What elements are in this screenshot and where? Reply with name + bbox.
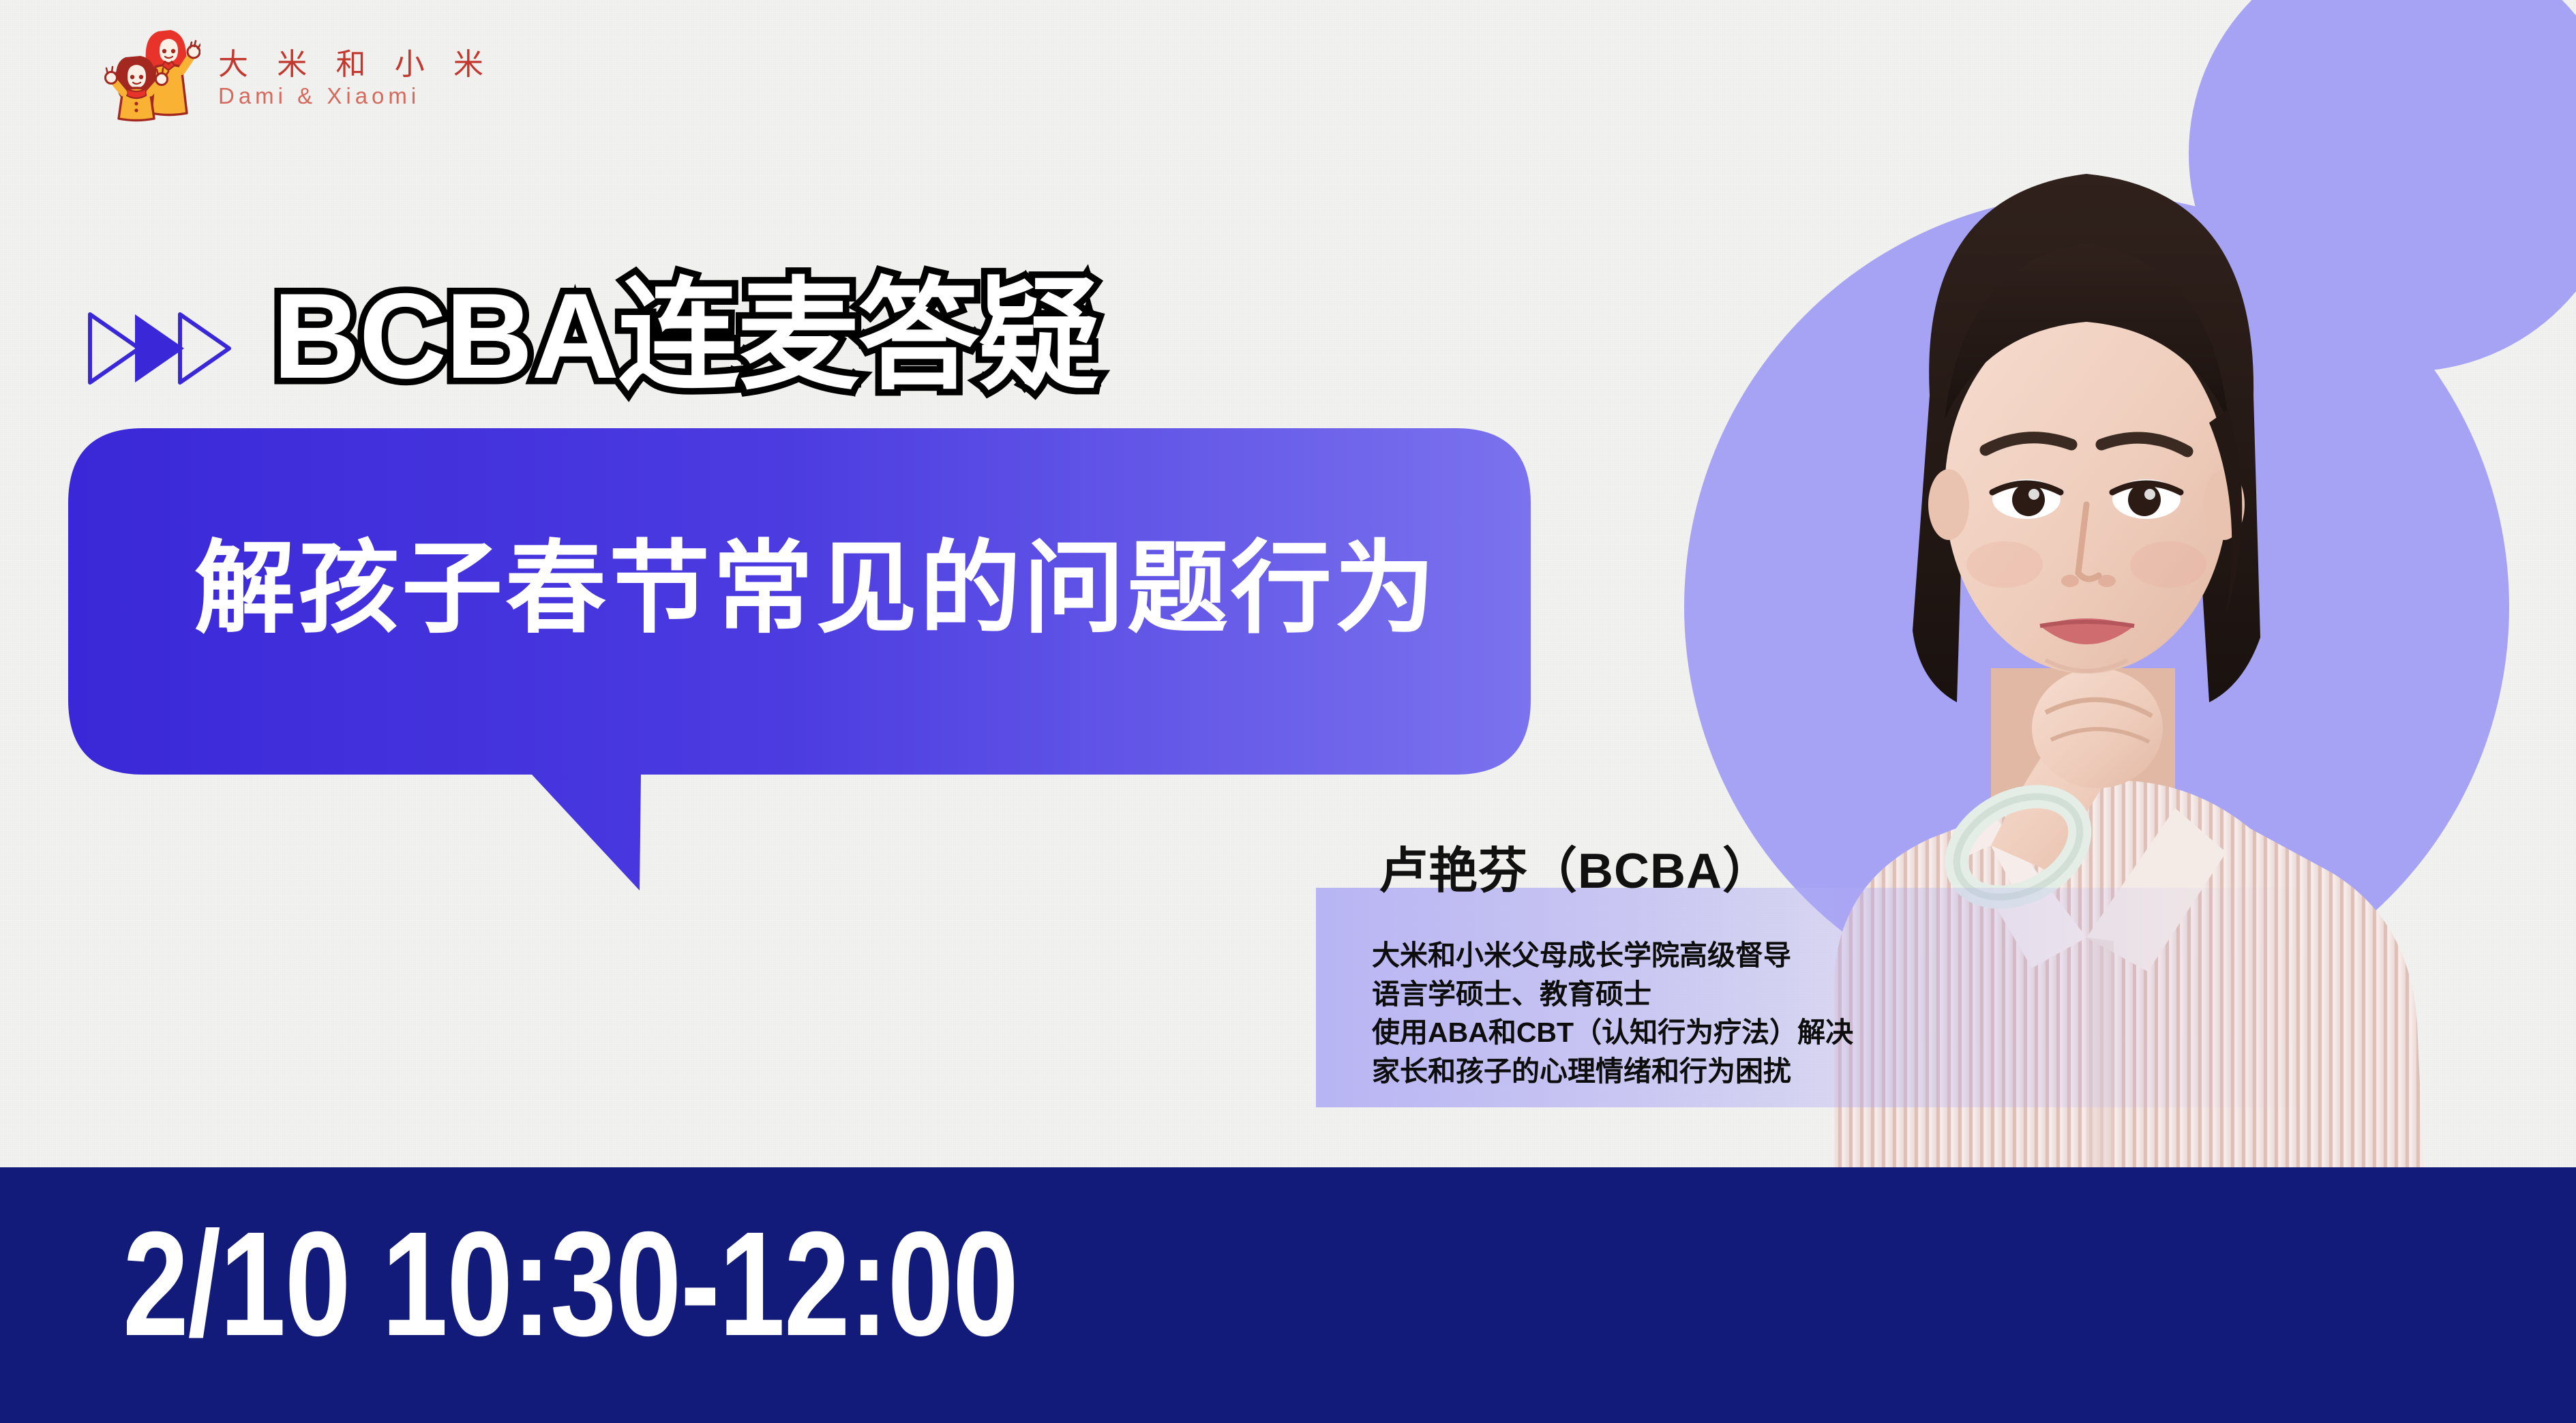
presenter-name: 卢艳芬（BCBA） [1379, 847, 1772, 896]
speech-bubble-text: 解孩子春节常见的问题行为 [194, 539, 1438, 640]
presenter-bio: 大米和小米父母成长学院高级督导 语言学硕士、教育硕士 使用ABA和CBT（认知行… [1372, 940, 1853, 1088]
triple-chevron-right-icon [86, 310, 233, 387]
two-children-mascot-icon [101, 19, 200, 123]
bio-line: 家长和孩子的心理情绪和行为困扰 [1372, 1055, 1853, 1088]
logo-name-en: Dami & Xiaomi [218, 83, 494, 109]
promo-poster: 大 米 和 小 米 Dami & Xiaomi BCBA连麦答疑 解孩子春节常见… [0, 0, 2576, 1423]
date-band: 2/10 10:30-12:00 [0, 1167, 2576, 1423]
bio-line: 大米和小米父母成长学院高级督导 [1372, 940, 1853, 972]
logo-wordmark: 大 米 和 小 米 Dami & Xiaomi [218, 33, 494, 110]
speech-bubble [68, 428, 1531, 905]
schedule-text: 2/10 10:30-12:00 [123, 1201, 1017, 1368]
bio-line: 语言学硕士、教育硕士 [1372, 978, 1853, 1011]
page-title: BCBA连麦答疑 [273, 273, 1098, 400]
bio-line: 使用ABA和CBT（认知行为疗法）解决 [1372, 1017, 1853, 1049]
logo-name-cn: 大 米 和 小 米 [218, 48, 494, 83]
brand-logo: 大 米 和 小 米 Dami & Xiaomi [101, 19, 494, 123]
